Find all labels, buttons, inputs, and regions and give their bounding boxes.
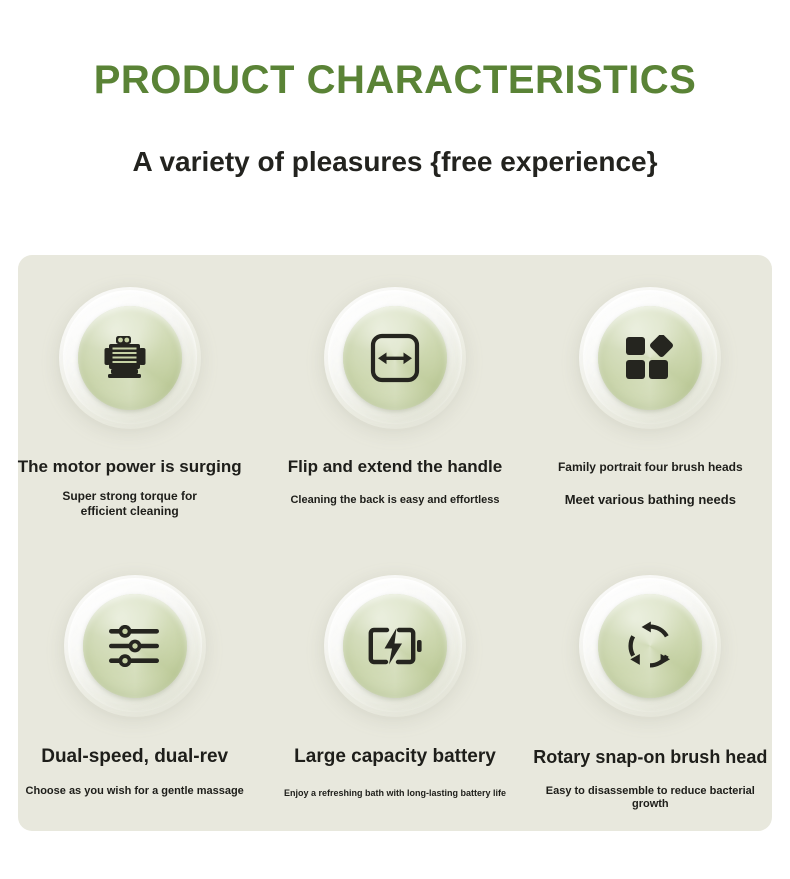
badge-inner-disc: [83, 594, 187, 698]
feature-icon-badge: [579, 287, 721, 429]
feature-card-rotary-brush-head: Rotary snap-on brush head Easy to disass…: [525, 543, 776, 831]
badge-inner-disc: [343, 594, 447, 698]
page-title: PRODUCT CHARACTERISTICS: [0, 58, 790, 102]
feature-card-flip-handle: Flip and extend the handle Cleaning the …: [269, 255, 520, 543]
horizontal-expand-arrow-icon: [370, 333, 420, 383]
feature-title: Rotary snap-on brush head: [527, 747, 773, 769]
feature-card-motor-power: The motor power is surging Super strong …: [4, 255, 255, 543]
feature-card-four-brush-heads: Family portrait four brush heads Meet va…: [525, 255, 776, 543]
feature-title: Flip and extend the handle: [282, 457, 508, 477]
feature-description: Meet various bathing needs: [557, 492, 744, 508]
badge-inner-disc: [78, 306, 182, 410]
feature-title: Family portrait four brush heads: [552, 460, 749, 474]
feature-description: Cleaning the back is easy and effortless: [282, 494, 507, 508]
four-brush-heads-icon: [625, 335, 675, 381]
product-characteristics-page: PRODUCT CHARACTERISTICS A variety of ple…: [0, 0, 790, 879]
features-panel: The motor power is surging Super strong …: [18, 255, 772, 831]
header: PRODUCT CHARACTERISTICS A variety of ple…: [0, 0, 790, 178]
feature-icon-badge: [324, 575, 466, 717]
battery-charging-icon: [367, 626, 423, 666]
feature-icon-badge: [579, 575, 721, 717]
badge-inner-disc: [598, 594, 702, 698]
page-subtitle: A variety of pleasures {free experience}: [0, 146, 790, 178]
feature-icon-badge: [59, 287, 201, 429]
feature-card-dual-speed: Dual-speed, dual-rev Choose as you wish …: [9, 543, 260, 831]
rotary-refresh-icon: [625, 621, 675, 671]
feature-description: Enjoy a refreshing bath with long-lastin…: [276, 788, 514, 799]
badge-inner-disc: [598, 306, 702, 410]
feature-title: Dual-speed, dual-rev: [35, 746, 234, 769]
feature-description: Super strong torque for efficient cleani…: [35, 489, 225, 519]
feature-title: The motor power is surging: [12, 457, 248, 477]
feature-card-battery: Large capacity battery Enjoy a refreshin…: [269, 543, 520, 831]
motor-icon: [104, 335, 156, 381]
features-grid: The motor power is surging Super strong …: [18, 255, 772, 831]
feature-description: Choose as you wish for a gentle massage: [18, 785, 252, 799]
sliders-icon: [108, 625, 162, 667]
feature-title: Large capacity battery: [288, 746, 502, 769]
feature-icon-badge: [324, 287, 466, 429]
feature-description: Easy to disassemble to reduce bacterial …: [525, 785, 776, 813]
feature-icon-badge: [64, 575, 206, 717]
badge-inner-disc: [343, 306, 447, 410]
